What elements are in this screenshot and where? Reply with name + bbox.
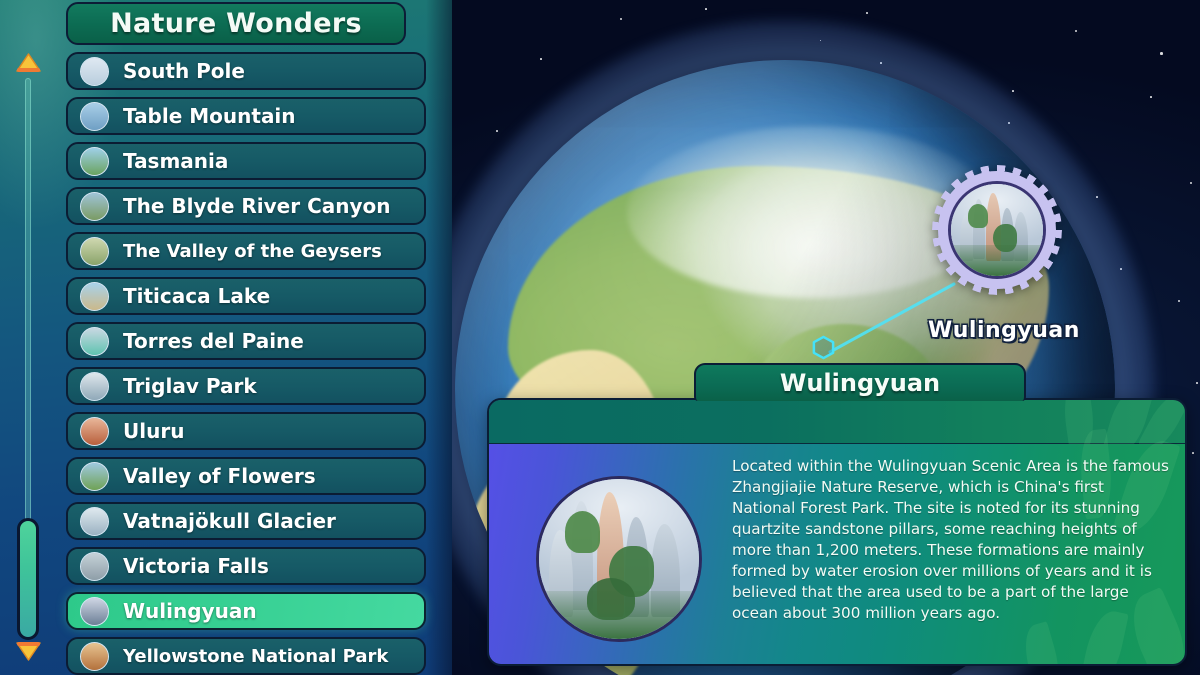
list-item-label: Vatnajökull Glacier [123, 509, 336, 533]
triangle-down-icon [15, 640, 42, 662]
wonders-list: South PoleTable MountainTasmaniaThe Blyd… [66, 52, 426, 675]
list-item-label: Valley of Flowers [123, 464, 316, 488]
list-item-thumbnail [80, 507, 109, 536]
list-item[interactable]: Torres del Paine [66, 322, 426, 360]
list-item-thumbnail [80, 102, 109, 131]
detail-description: Located within the Wulingyuan Scenic Are… [732, 456, 1169, 624]
page-title: Nature Wonders [66, 2, 406, 45]
list-item-label: Tasmania [123, 149, 228, 173]
pin-photo-ring [948, 181, 1046, 279]
triangle-up-icon [15, 52, 42, 74]
list-item-thumbnail [80, 372, 109, 401]
info-panel-header [489, 400, 1185, 444]
star [620, 18, 622, 20]
app-root: Wulingyuan Nature Wonders So [0, 0, 1200, 675]
location-pin-badge[interactable] [938, 171, 1056, 289]
list-item-thumbnail [80, 597, 109, 626]
list-item-label: The Blyde River Canyon [123, 194, 391, 218]
list-item-label: Torres del Paine [123, 329, 304, 353]
list-item-label: Triglav Park [123, 374, 257, 398]
list-item-thumbnail [80, 417, 109, 446]
list-item-thumbnail [80, 327, 109, 356]
list-item[interactable]: The Valley of the Geysers [66, 232, 426, 270]
list-item[interactable]: Uluru [66, 412, 426, 450]
list-item[interactable]: Valley of Flowers [66, 457, 426, 495]
list-item-thumbnail [80, 147, 109, 176]
list-item-label: The Valley of the Geysers [123, 241, 382, 262]
list-item-label: Titicaca Lake [123, 284, 270, 308]
scroll-thumb[interactable] [17, 518, 39, 640]
scrollbar[interactable] [13, 52, 43, 662]
sidebar: Nature Wonders South PoleTable MountainT… [0, 0, 452, 675]
star [1192, 452, 1194, 454]
star [1190, 182, 1192, 184]
list-item-thumbnail [80, 57, 109, 86]
pin-thumbnail-image [951, 184, 1043, 276]
list-item-thumbnail [80, 192, 109, 221]
list-item[interactable]: Titicaca Lake [66, 277, 426, 315]
list-item-label: South Pole [123, 59, 245, 83]
scroll-down-button[interactable] [15, 640, 42, 662]
list-item-thumbnail [80, 462, 109, 491]
list-item-thumbnail [80, 237, 109, 266]
scroll-up-button[interactable] [15, 52, 42, 74]
list-item[interactable]: Table Mountain [66, 97, 426, 135]
star [705, 8, 707, 10]
hexagon-marker-icon[interactable] [811, 335, 836, 360]
list-item[interactable]: The Blyde River Canyon [66, 187, 426, 225]
list-item[interactable]: South Pole [66, 52, 426, 90]
list-item[interactable]: Yellowstone National Park [66, 637, 426, 675]
page-title-text: Nature Wonders [110, 8, 362, 39]
list-item[interactable]: Vatnajökull Glacier [66, 502, 426, 540]
detail-thumbnail [536, 476, 702, 642]
detail-title-banner: Wulingyuan [694, 363, 1026, 401]
star [1150, 96, 1152, 98]
list-item-label: Yellowstone National Park [123, 646, 388, 667]
star [866, 12, 868, 14]
info-panel-body: Located within the Wulingyuan Scenic Are… [489, 444, 1185, 664]
list-item[interactable]: Wulingyuan [66, 592, 426, 630]
list-item-label: Uluru [123, 419, 184, 443]
list-item-thumbnail [80, 552, 109, 581]
wulingyuan-photo [539, 479, 699, 639]
list-item[interactable]: Triglav Park [66, 367, 426, 405]
list-item[interactable]: Tasmania [66, 142, 426, 180]
pin-caption: Wulingyuan [928, 318, 1078, 343]
list-item-thumbnail [80, 642, 109, 671]
detail-info-panel: Located within the Wulingyuan Scenic Are… [487, 398, 1187, 666]
list-item-thumbnail [80, 282, 109, 311]
star [1160, 52, 1163, 55]
list-item-label: Victoria Falls [123, 554, 269, 578]
star [1196, 382, 1198, 384]
star [1178, 300, 1180, 302]
star [1075, 30, 1077, 32]
list-item-label: Wulingyuan [123, 599, 257, 623]
detail-title-text: Wulingyuan [780, 369, 940, 397]
list-item[interactable]: Victoria Falls [66, 547, 426, 585]
list-item-label: Table Mountain [123, 104, 296, 128]
